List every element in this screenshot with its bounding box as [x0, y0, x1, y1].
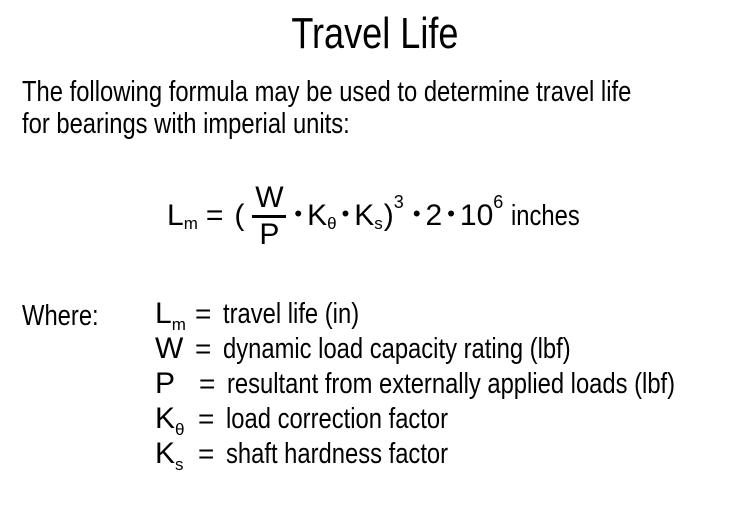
formula-exponent-3: 3: [394, 193, 404, 211]
definition-row: Ks = shaft hardness factor: [155, 439, 750, 474]
formula-open-paren: (: [234, 201, 244, 231]
travel-life-formula: Lm = ( W P • Kθ • Ks )3 • 2 • 106 inches: [167, 176, 595, 256]
intro-paragraph: The following formula may be used to det…: [22, 76, 742, 140]
definition-row: P = resultant from externally applied lo…: [155, 369, 750, 404]
definition-row: Lm = travel life (in): [155, 299, 750, 334]
definition-description: shaft hardness factor: [226, 439, 497, 469]
where-label-text: Where:: [22, 300, 99, 332]
definition-equals: =: [195, 404, 226, 434]
definition-description-text: dynamic load capacity rating (lbf): [223, 334, 571, 364]
formula-fraction-numerator: W: [253, 183, 285, 213]
definition-description: travel life (in): [223, 299, 389, 329]
page-title: Travel Life: [0, 8, 750, 60]
page-title-text: Travel Life: [291, 8, 458, 60]
definition-description-text: travel life (in): [223, 299, 359, 329]
formula-units: inches: [511, 202, 595, 231]
formula-ktheta-subscript: θ: [327, 215, 336, 232]
definition-list: Lm = travel life (in) W = dynamic load c…: [155, 299, 750, 474]
definition-symbol: Lm: [155, 299, 195, 333]
definition-equals: =: [195, 369, 227, 399]
definition-symbol-base: P: [155, 367, 175, 400]
definition-description: resultant from externally applied loads …: [227, 369, 750, 399]
definition-equals: =: [195, 334, 223, 364]
definition-symbol: Kθ: [155, 404, 195, 438]
intro-line-2-text: for bearings with imperial units:: [22, 108, 350, 140]
definition-description-text: shaft hardness factor: [226, 439, 448, 469]
intro-line-2: for bearings with imperial units:: [22, 108, 742, 140]
formula-ks-subscript: s: [374, 215, 383, 232]
definition-row: Kθ = load correction factor: [155, 404, 750, 439]
formula-ten-base: 10: [460, 201, 493, 231]
formula-lhs-subscript: m: [184, 215, 198, 232]
definition-description-text: load correction factor: [226, 404, 448, 434]
definition-symbol-subscript: s: [175, 455, 184, 474]
definition-description-text: resultant from externally applied loads …: [227, 369, 675, 399]
formula-factor-2: 2: [426, 201, 443, 231]
definition-symbol-base: K: [155, 402, 175, 435]
definition-symbol: Ks: [155, 439, 195, 473]
definition-description: load correction factor: [226, 404, 497, 434]
formula-ten-exponent-6: 6: [493, 193, 503, 211]
definition-symbol-base: W: [155, 332, 183, 365]
definition-symbol-base: L: [155, 297, 172, 330]
formula-multiply-dot-1: •: [294, 203, 302, 225]
definition-row: W = dynamic load capacity rating (lbf): [155, 334, 750, 369]
definition-symbol-subscript: m: [172, 315, 186, 334]
definition-symbol-base: K: [155, 437, 175, 470]
formula-multiply-dot-3: •: [413, 203, 421, 225]
formula-lhs-base: L: [167, 201, 184, 231]
formula-close-paren: ): [384, 201, 394, 231]
definition-symbol: P: [155, 369, 195, 403]
where-label: Where:: [22, 300, 115, 332]
formula-units-text: inches: [511, 202, 580, 231]
definition-equals: =: [195, 299, 223, 329]
formula-ktheta-base: K: [307, 201, 327, 231]
formula-ks-base: K: [354, 201, 374, 231]
formula-multiply-dot-2: •: [342, 203, 350, 225]
intro-line-1: The following formula may be used to det…: [22, 76, 742, 108]
definition-description: dynamic load capacity rating (lbf): [223, 334, 647, 364]
formula-equals: =: [206, 201, 224, 231]
formula-fraction-denominator: P: [257, 220, 281, 250]
definition-symbol: W: [155, 334, 195, 368]
formula-multiply-dot-4: •: [447, 203, 455, 225]
definition-equals: =: [195, 439, 226, 469]
definition-symbol-subscript: θ: [175, 420, 184, 439]
intro-line-1-text: The following formula may be used to det…: [22, 76, 631, 108]
formula-fraction-w-over-p: W P: [252, 183, 286, 250]
